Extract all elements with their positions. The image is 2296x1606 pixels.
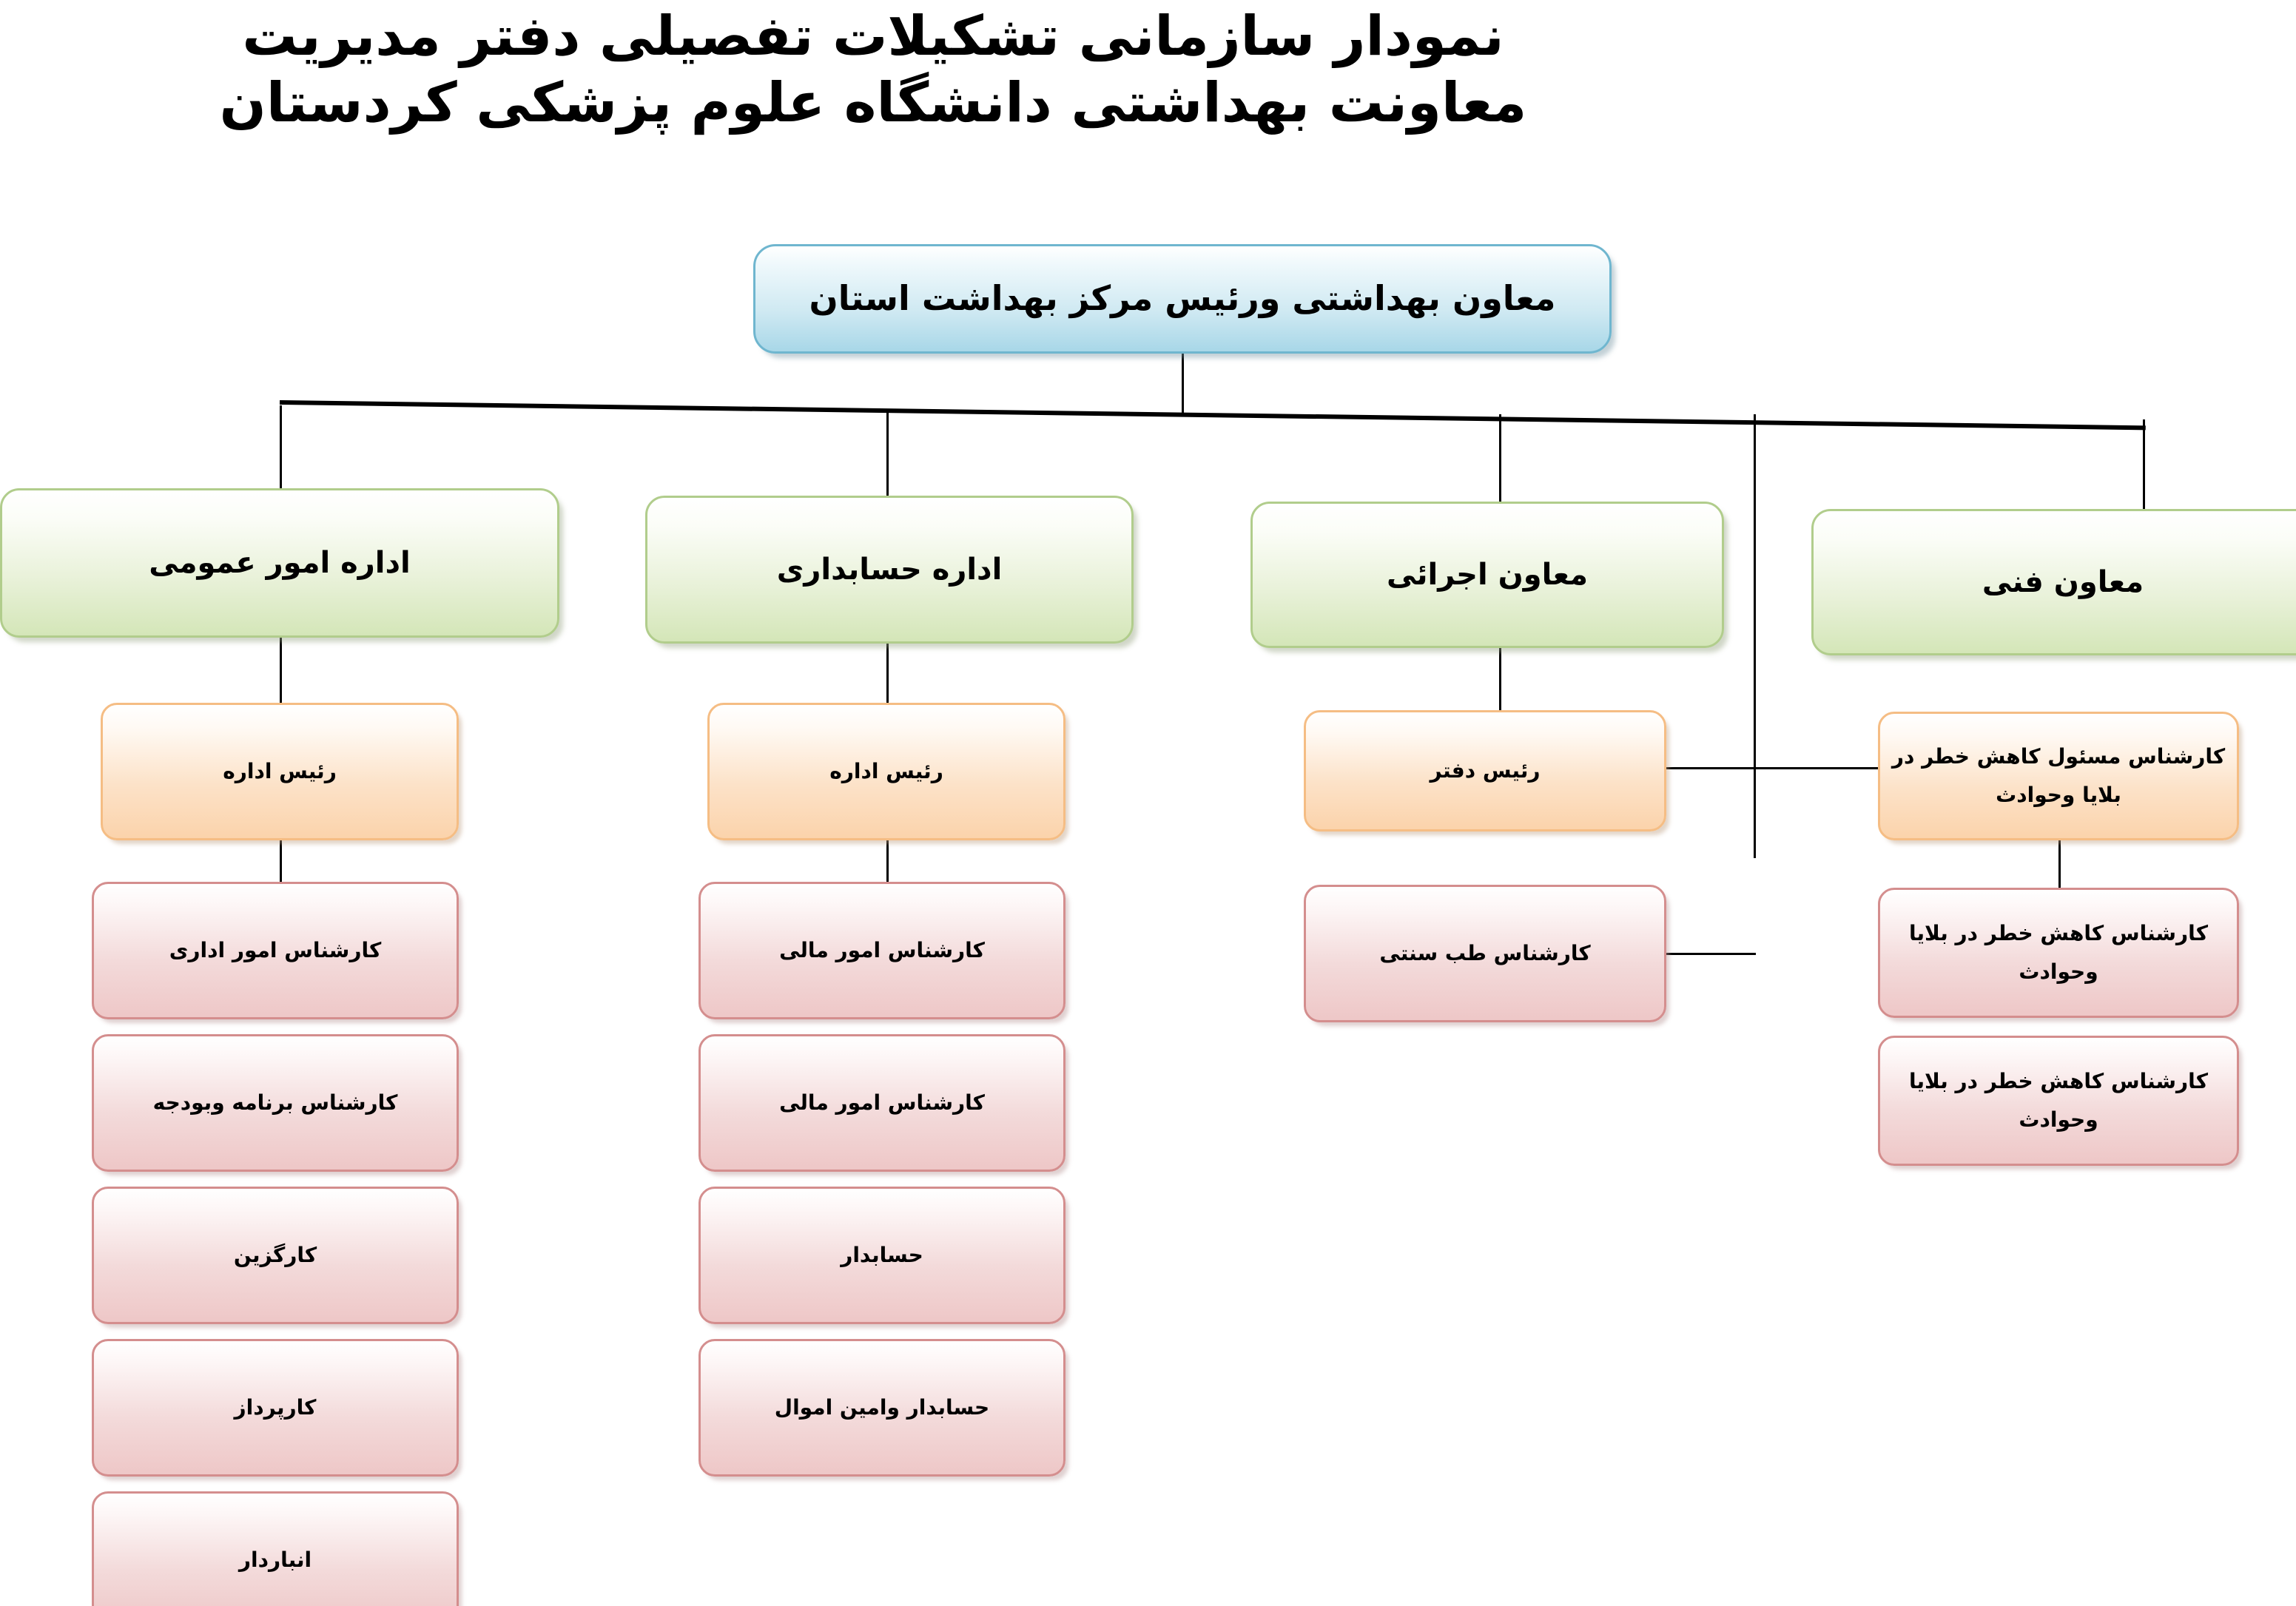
node-ga-3[interactable]: کارگزین bbox=[92, 1187, 459, 1324]
node-ex-head-label: رئیس دفتر bbox=[1430, 755, 1541, 786]
connector-traditional-medicine-to-spine bbox=[1665, 953, 1756, 955]
node-ga-5[interactable]: انباردار bbox=[92, 1491, 459, 1606]
node-ga-3-label: کارگزین bbox=[234, 1239, 317, 1271]
node-ac-head-label: رئیس اداره bbox=[829, 755, 943, 787]
connector-drop-exec-deputy bbox=[1499, 414, 1501, 502]
node-ga-4-label: کارپرداز bbox=[235, 1391, 317, 1423]
node-root[interactable]: معاون بهداشتی ورئیس مرکز بهداشت استان bbox=[753, 244, 1612, 354]
connector-ga-head-to-staff bbox=[280, 839, 282, 883]
connector-drop-accounting bbox=[886, 410, 889, 496]
connector-general-affairs-to-head bbox=[280, 638, 282, 703]
node-general-affairs-label: اداره امور عمومی bbox=[149, 540, 410, 586]
node-accounting[interactable]: اداره حسابداری bbox=[645, 496, 1134, 644]
node-te-head[interactable]: کارشناس مسئول کاهش خطر در بلایا وحوادث bbox=[1878, 712, 2239, 840]
node-ac-1[interactable]: کارشناس امور مالی bbox=[698, 882, 1065, 1019]
connector-drop-tech-deputy bbox=[2143, 419, 2145, 510]
connector-spine-to-tech-chief bbox=[1665, 767, 1879, 769]
node-root-label: معاون بهداشتی ورئیس مرکز بهداشت استان bbox=[809, 272, 1556, 325]
node-general-affairs[interactable]: اداره امور عمومی bbox=[0, 488, 559, 638]
node-ga-1[interactable]: کارشناس امور اداری bbox=[92, 882, 459, 1019]
node-ac-3-label: حسابدار bbox=[841, 1239, 923, 1271]
node-ac-4-label: حسابدار وامین اموال bbox=[775, 1391, 989, 1423]
connector-tech-chief-to-staff bbox=[2058, 840, 2061, 890]
connector-main-bus bbox=[280, 400, 2146, 430]
org-chart-canvas: نمودار سازمانی تشکیلات تفصیلی دفتر مدیری… bbox=[0, 0, 2296, 1606]
node-ex-head[interactable]: رئیس دفتر bbox=[1304, 710, 1666, 831]
node-ac-1-label: کارشناس امور مالی bbox=[779, 934, 985, 966]
node-te-head-label: کارشناس مسئول کاهش خطر در بلایا وحوادث bbox=[1891, 738, 2226, 814]
connector-accounting-to-head bbox=[886, 638, 889, 703]
node-tech-deputy[interactable]: معاون فنی bbox=[1811, 509, 2296, 655]
node-ac-3[interactable]: حسابدار bbox=[698, 1187, 1065, 1324]
chart-title-line-1: نمودار سازمانی تشکیلات تفصیلی دفتر مدیری… bbox=[0, 3, 1746, 70]
connector-exec-deputy-to-head bbox=[1499, 638, 1501, 710]
node-ga-2-label: کارشناس برنامه وبودجه bbox=[153, 1087, 398, 1119]
node-exec-deputy-label: معاون اجرائی bbox=[1387, 552, 1588, 598]
connector-drop-general-affairs bbox=[280, 405, 282, 488]
chart-title-line-2: معاونت بهداشتی دانشگاه علوم پزشکی کردستا… bbox=[0, 70, 1746, 136]
node-ac-head[interactable]: رئیس اداره bbox=[707, 703, 1065, 840]
node-ga-head[interactable]: رئیس اداره bbox=[101, 703, 459, 840]
node-ac-2[interactable]: کارشناس امور مالی bbox=[698, 1034, 1065, 1172]
node-ex-1[interactable]: کارشناس طب سنتی bbox=[1304, 885, 1666, 1022]
node-ga-2[interactable]: کارشناس برنامه وبودجه bbox=[92, 1034, 459, 1172]
node-te-2-label: کارشناس کاهش خطر در بلایا وحوادث bbox=[1891, 1062, 2226, 1139]
node-accounting-label: اداره حسابداری bbox=[777, 547, 1003, 593]
connector-ac-head-to-staff bbox=[886, 839, 889, 883]
node-tech-deputy-label: معاون فنی bbox=[1982, 559, 2144, 605]
node-ga-1-label: کارشناس امور اداری bbox=[169, 934, 381, 966]
node-ac-4[interactable]: حسابدار وامین اموال bbox=[698, 1339, 1065, 1477]
node-ex-1-label: کارشناس طب سنتی bbox=[1379, 937, 1590, 969]
node-ga-4[interactable]: کارپرداز bbox=[92, 1339, 459, 1477]
node-ga-head-label: رئیس اداره bbox=[223, 755, 337, 787]
node-ga-5-label: انباردار bbox=[239, 1544, 312, 1576]
node-ac-2-label: کارشناس امور مالی bbox=[779, 1087, 985, 1119]
node-te-1[interactable]: کارشناس کاهش خطر در بلایا وحوادث bbox=[1878, 888, 2239, 1018]
node-te-1-label: کارشناس کاهش خطر در بلایا وحوادث bbox=[1891, 914, 2226, 991]
node-te-2[interactable]: کارشناس کاهش خطر در بلایا وحوادث bbox=[1878, 1036, 2239, 1166]
node-exec-deputy[interactable]: معاون اجرائی bbox=[1250, 502, 1724, 648]
connector-spine-right bbox=[1754, 414, 1756, 858]
chart-title: نمودار سازمانی تشکیلات تفصیلی دفتر مدیری… bbox=[0, 3, 1746, 137]
connector-root-stem bbox=[1182, 354, 1184, 413]
